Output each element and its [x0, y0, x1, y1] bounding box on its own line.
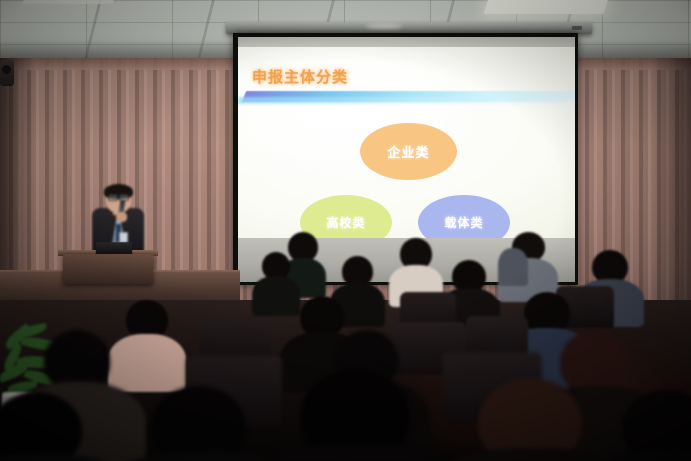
- presentation-room-photo: 申报主体分类 企业类 高校类 载体类: [0, 0, 691, 461]
- screen-unlit-top: [238, 37, 575, 47]
- podium: [63, 254, 153, 284]
- housing-knob: [572, 26, 582, 30]
- slide-accent-bar-secondary: [238, 97, 575, 104]
- presentation-slide: 申报主体分类 企业类 高校类 载体类: [238, 47, 575, 239]
- wall-speaker-icon: [0, 60, 14, 86]
- slide-title: 申报主体分类: [252, 66, 348, 87]
- glasses-icon: [108, 194, 129, 200]
- presenter-hand: [116, 212, 127, 222]
- laptop-icon: [96, 242, 133, 254]
- ceiling-light-panel-left: [22, 0, 115, 4]
- ceiling-light-panel-right: [483, 0, 608, 14]
- slide-shape-enterprise: 企业类: [360, 123, 457, 180]
- housing-highlight: [366, 24, 402, 29]
